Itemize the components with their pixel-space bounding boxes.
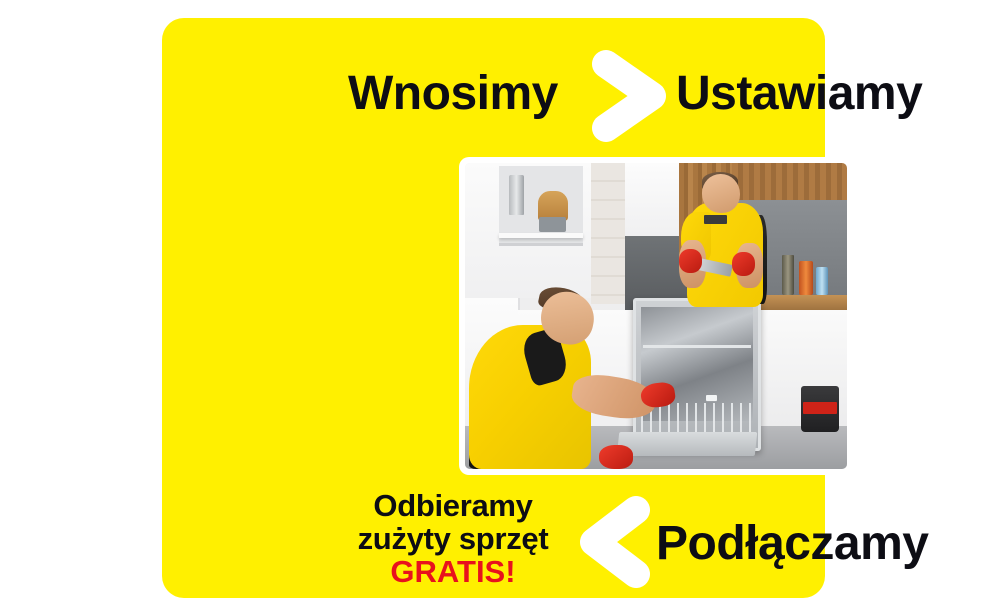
basket-base-object — [539, 217, 566, 232]
tool-bag-strap — [803, 402, 837, 414]
shelf-board — [499, 233, 583, 238]
promo-banner: Wnosimy Ustawiamy Podłączamy Odbieramy z… — [0, 0, 1000, 612]
bottle-object-a — [782, 255, 793, 295]
detergent-tray — [706, 395, 717, 401]
step-label-podlaczamy: Podłączamy — [656, 520, 928, 568]
offer-line-3-gratis: GRATIS! — [340, 556, 566, 589]
tile-strip — [591, 163, 625, 304]
photo-frame — [459, 157, 853, 475]
free-pickup-offer: Odbieramy zużyty sprzęt GRATIS! — [340, 490, 566, 589]
technician-right-glove-right — [732, 252, 755, 276]
offer-line-1: Odbieramy — [340, 490, 566, 523]
technician-right-glove-left — [679, 249, 702, 273]
chevron-down-icon — [864, 290, 974, 368]
wood-panel-upper — [732, 163, 847, 200]
technician-left-glove-lower — [599, 445, 633, 469]
installation-photo — [465, 163, 847, 469]
offer-line-2: zużyty sprzęt — [340, 523, 566, 556]
bottle-object-b — [799, 261, 812, 295]
chevron-right-icon — [582, 44, 678, 148]
bottle-object-c — [816, 267, 827, 295]
step-label-wnosimy: Wnosimy — [348, 70, 558, 118]
dishwasher-upper-rack — [643, 345, 751, 348]
technician-right-head — [702, 174, 740, 214]
dishwasher-door — [617, 432, 757, 456]
step-label-ustawiamy: Ustawiamy — [676, 70, 922, 118]
jar-object — [509, 175, 524, 215]
dishwasher — [633, 298, 761, 451]
chevron-left-icon — [572, 490, 658, 594]
technician-right-logo — [704, 215, 727, 224]
yellow-card: Wnosimy Ustawiamy Podłączamy Odbieramy z… — [162, 18, 825, 598]
